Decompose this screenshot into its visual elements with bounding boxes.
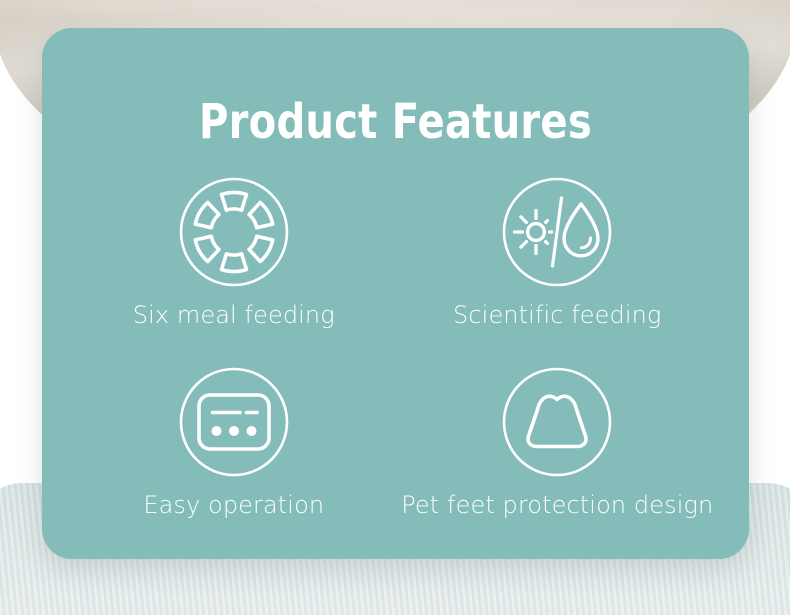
feature-label: Pet feet protection design bbox=[401, 492, 713, 518]
feature-label: Easy operation bbox=[143, 492, 324, 518]
sun-and-water-drop-icon bbox=[501, 176, 613, 288]
feature-card: Product Features bbox=[42, 28, 749, 559]
feature-item-scientific-feeding: Scientific feeding bbox=[396, 176, 720, 366]
feature-item-six-meal-feeding: Six meal feeding bbox=[72, 176, 396, 366]
feature-label: Six meal feeding bbox=[133, 302, 335, 328]
control-panel-icon bbox=[178, 366, 290, 478]
six-compartment-tray-icon bbox=[178, 176, 290, 288]
page-title: Product Features bbox=[67, 98, 725, 146]
feature-item-pet-feet-protection: Pet feet protection design bbox=[396, 366, 720, 556]
feature-grid: Six meal feeding bbox=[72, 176, 719, 556]
paw-pad-icon bbox=[501, 366, 613, 478]
feature-item-easy-operation: Easy operation bbox=[72, 366, 396, 556]
product-features-banner: Product Features bbox=[0, 0, 790, 615]
feature-label: Scientific feeding bbox=[453, 302, 661, 328]
